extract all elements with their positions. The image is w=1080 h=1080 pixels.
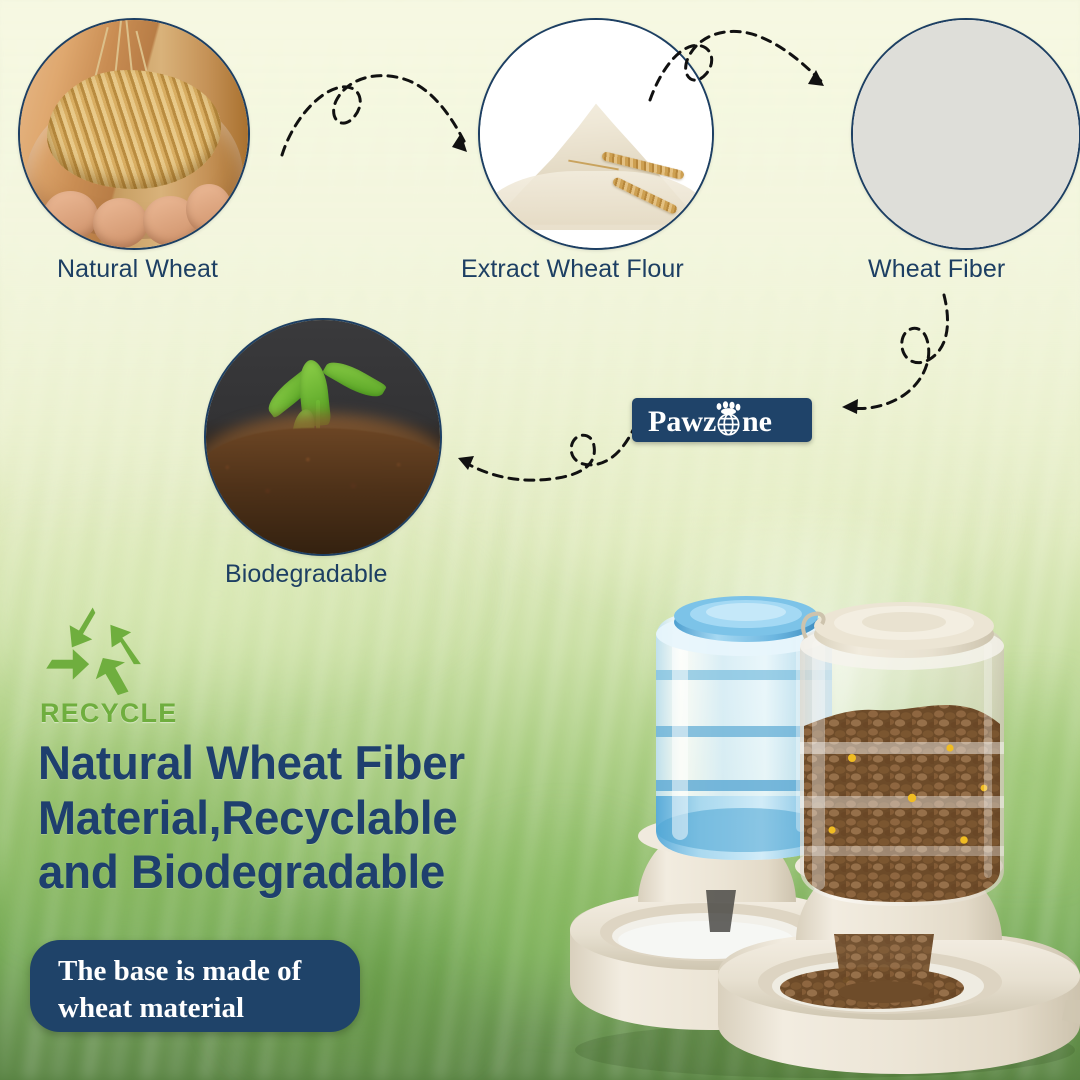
paw-print-icon (717, 401, 741, 414)
step-circle-biodegradable (204, 318, 442, 556)
arrow-fiber-to-biodegradable-icon (838, 285, 1028, 455)
product-photo (560, 530, 1080, 1080)
brand-name-after-globe: ne (742, 405, 772, 438)
infographic-canvas: Natural Wheat Extract Wheat Flour Wheat … (0, 0, 1080, 1080)
caption-line-2: wheat material (58, 990, 348, 1027)
arrow-logo-to-biodegradable-icon (440, 418, 645, 518)
headline-line-1: Natural Wheat Fiber (38, 736, 620, 791)
step-label-natural-wheat: Natural Wheat (57, 255, 218, 284)
page-title: Natural Wheat Fiber Material,Recyclable … (38, 736, 620, 900)
arrow-flour-to-fiber-icon (640, 20, 870, 150)
step-label-wheat-fiber: Wheat Fiber (868, 255, 1005, 284)
seedling-soil-photo (206, 320, 440, 554)
step-label-extract-wheat-flour: Extract Wheat Flour (461, 255, 684, 284)
brand-name-before-globe: Pawz (648, 405, 716, 438)
step-label-biodegradable: Biodegradable (225, 560, 388, 589)
globe-icon (718, 414, 738, 434)
wheat-fiber-pellets-photo (853, 20, 1079, 248)
recycle-icon (40, 604, 148, 696)
arrow-wheat-to-flour-icon (270, 55, 500, 175)
headline-line-3: and Biodegradable (38, 845, 620, 900)
step-circle-wheat-fiber (851, 18, 1080, 250)
headline-line-2: Material,Recyclable (38, 791, 620, 846)
natural-wheat-photo (20, 20, 248, 248)
pawzone-logo-badge[interactable]: Pawz ne (632, 398, 812, 442)
caption-line-1: The base is made of (58, 953, 348, 990)
recycle-block: RECYCLE (40, 604, 240, 729)
step-circle-natural-wheat (18, 18, 250, 250)
caption-badge: The base is made of wheat material (30, 940, 360, 1032)
recycle-label: RECYCLE (40, 698, 240, 729)
pawzone-logo-mark: Pawz ne (632, 398, 812, 442)
